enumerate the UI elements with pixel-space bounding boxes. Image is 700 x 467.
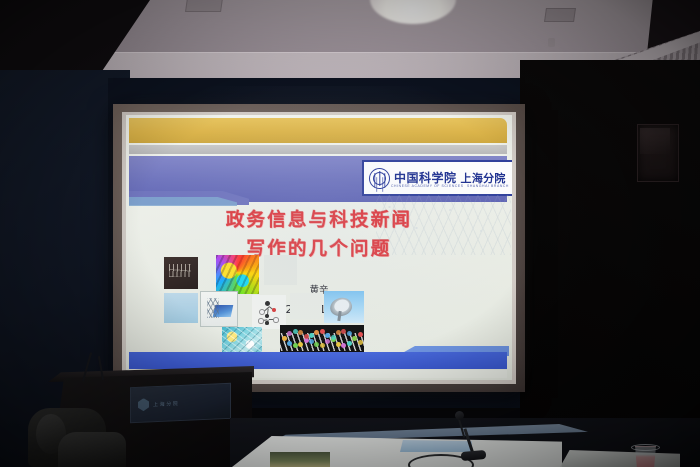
cas-logo-branch-en: SHANGHAI BRANCH [467, 184, 509, 188]
slide-blue-step-accent [129, 197, 237, 206]
podium-plate-text: 上海分院 [153, 400, 179, 408]
wall-speaker-panel-sheen [640, 128, 670, 154]
ceiling-vent-left-icon [185, 0, 223, 12]
podium-emblem-icon [138, 398, 149, 411]
slide-gold-bar [129, 118, 507, 143]
sprinkler-head-icon [548, 38, 555, 47]
cas-logo-branch-text: 上海分院 [461, 173, 506, 184]
cas-logo-main-en: CHINESE ACADEMY OF SCIENCES [391, 184, 464, 188]
tile-molecule-model-icon [252, 295, 286, 329]
gooseneck-microphone-head-icon [455, 411, 464, 420]
tile-laptop-research-icon [200, 291, 238, 327]
conference-room-photo: 中国科学院 上海分院 CHINESE ACADEMY OF SCIENCES S… [0, 0, 700, 467]
projection-screen: 中国科学院 上海分院 CHINESE ACADEMY OF SCIENCES S… [126, 115, 512, 380]
cas-emblem-icon [369, 168, 390, 189]
tile-blackboard-equations-icon [164, 257, 198, 289]
document-on-table-left [270, 452, 330, 467]
document-on-table-mid [400, 440, 472, 452]
tile-dna-helix-icon [280, 325, 364, 355]
ceiling-vent-right-icon [544, 8, 576, 22]
tile-lightblue-block [164, 293, 198, 323]
tile-colorful-microscopy-icon [216, 255, 259, 294]
tile-radio-telescope-icon [324, 291, 364, 323]
cas-logo-main-text: 中国科学院 [394, 172, 457, 184]
chair-armrest [58, 432, 126, 467]
slide-image-mosaic [164, 257, 380, 353]
presentation-slide: 中国科学院 上海分院 CHINESE ACADEMY OF SCIENCES S… [126, 115, 512, 380]
tile-teal-micrograph-icon [222, 327, 262, 355]
cas-logo: 中国科学院 上海分院 CHINESE ACADEMY OF SCIENCES S… [362, 160, 512, 196]
tile-blank-mid [290, 293, 322, 319]
slide-title-line1: 政务信息与科技新闻 [126, 207, 512, 236]
slide-bottom-bar [129, 352, 507, 369]
wall-right [520, 60, 700, 440]
podium-nameplate: 上海分院 [130, 383, 231, 423]
tile-blank-upper-right [264, 255, 297, 285]
drinking-cup-rim [631, 444, 660, 451]
slide-gray-bar [129, 145, 507, 154]
slide-title: 政务信息与科技新闻 写作的几个问题 [126, 207, 512, 264]
